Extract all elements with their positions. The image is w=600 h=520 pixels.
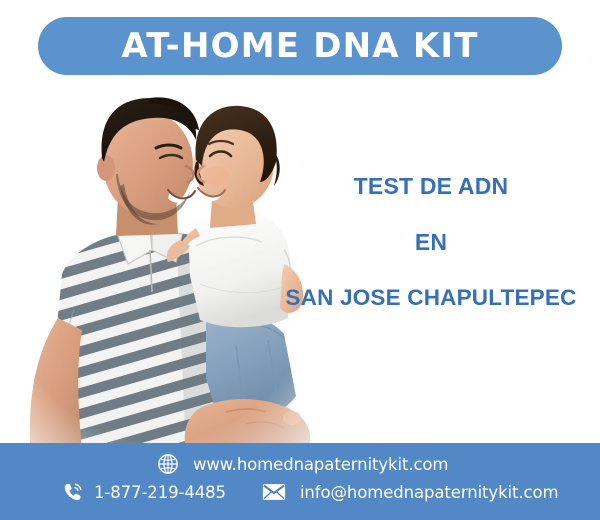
headline-block: TEST DE ADN EN SAN JOSE CHAPULTEPEC (272, 158, 590, 326)
globe-icon (157, 453, 179, 475)
headline-line-1: TEST DE ADN (272, 158, 590, 214)
promo-banner-canvas: AT-HOME DNA KIT (0, 0, 600, 520)
photo-illustration (0, 78, 318, 450)
footer-website-row[interactable]: www.homednapaternitykit.com (157, 453, 448, 475)
header-banner: AT-HOME DNA KIT (38, 17, 562, 75)
email-label[interactable]: info@homednapaternitykit.com (300, 483, 559, 502)
page-title: AT-HOME DNA KIT (121, 26, 478, 66)
envelope-icon (262, 482, 286, 502)
phone-label[interactable]: 1-877-219-4485 (94, 483, 226, 502)
footer-contact-bar: www.homednapaternitykit.com 1-877-219-44… (0, 443, 600, 520)
headline-line-3: SAN JOSE CHAPULTEPEC (272, 270, 590, 326)
website-label[interactable]: www.homednapaternitykit.com (193, 455, 448, 474)
headline-line-2: EN (272, 214, 590, 270)
phone-icon (62, 481, 84, 503)
footer-contact-row: 1-877-219-4485 info@homednapaternitykit.… (62, 481, 559, 503)
father-and-child-photo (0, 78, 318, 450)
